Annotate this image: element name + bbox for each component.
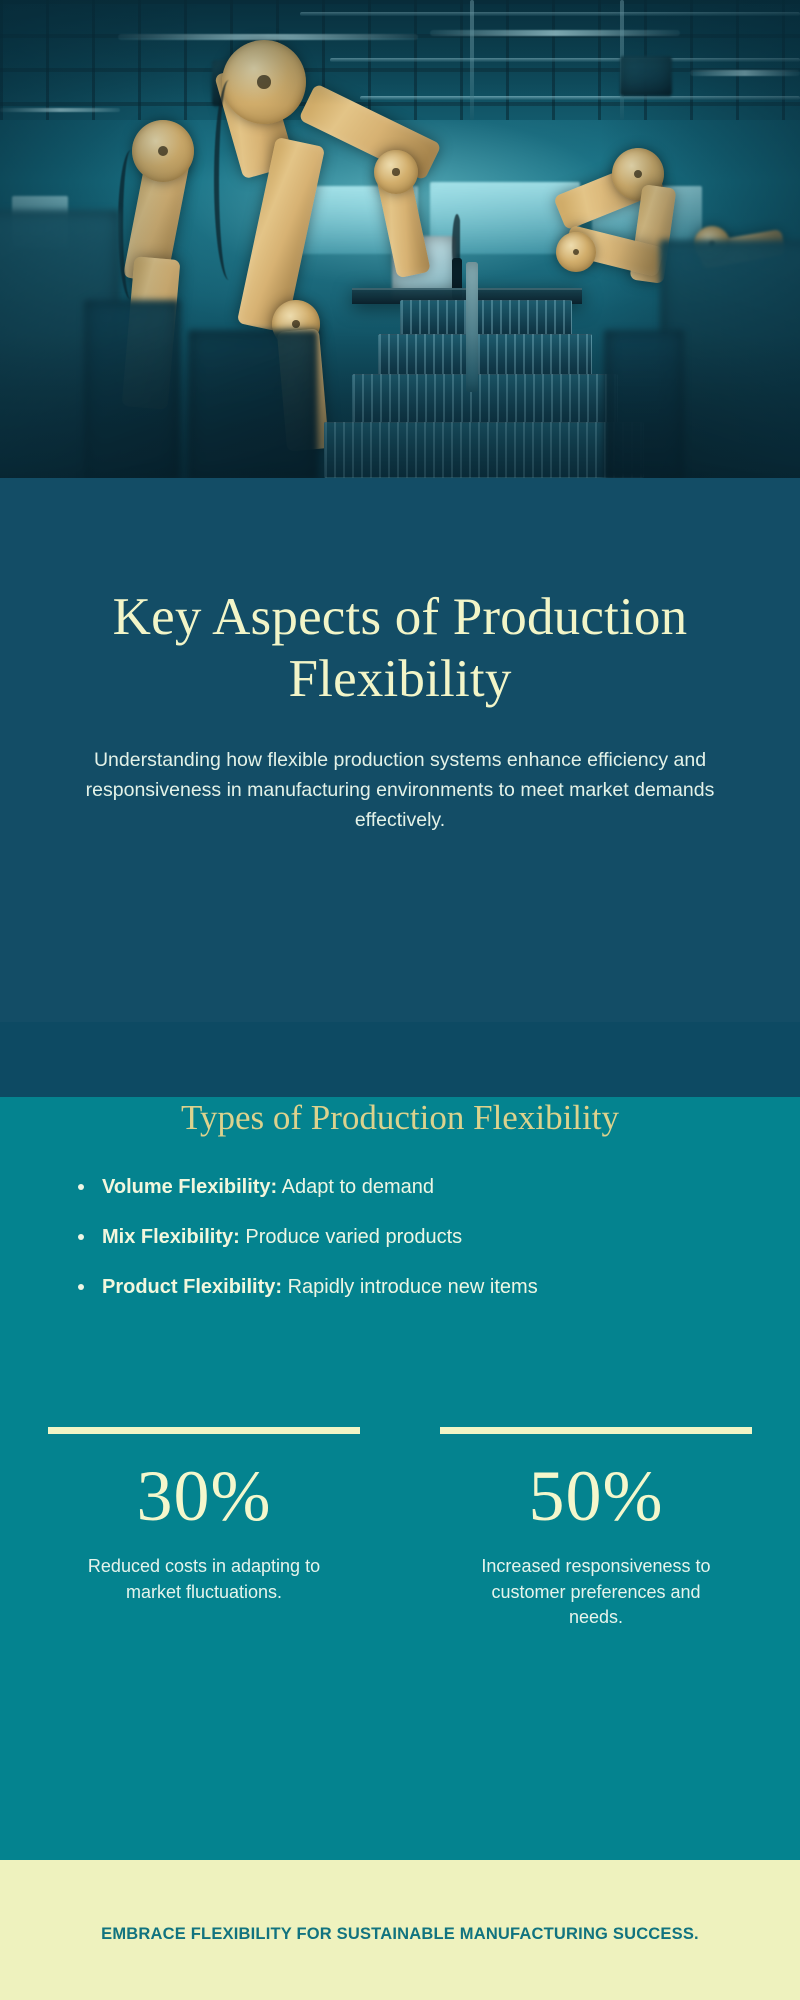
list-item-desc: Rapidly introduce new items: [282, 1276, 538, 1298]
intro-section: Key Aspects of Production Flexibility Un…: [0, 478, 800, 1022]
statistics-row: 30% Reduced costs in adapting to market …: [48, 1427, 752, 1631]
list-item: Product Flexibility: Rapidly introduce n…: [66, 1273, 752, 1301]
stat-description: Reduced costs in adapting to market fluc…: [79, 1554, 329, 1605]
hero-vignette-decor: [0, 0, 800, 478]
stat-value: 50%: [529, 1460, 664, 1532]
footer-section: EMBRACE FLEXIBILITY FOR SUSTAINABLE MANU…: [0, 1860, 800, 2000]
flexibility-types-list: Volume Flexibility: Adapt to demand Mix …: [48, 1173, 752, 1301]
footer-tagline: EMBRACE FLEXIBILITY FOR SUSTAINABLE MANU…: [101, 1923, 699, 1947]
list-item-term: Mix Flexibility:: [102, 1226, 240, 1248]
list-item: Mix Flexibility: Produce varied products: [66, 1223, 752, 1251]
stat-card: 50% Increased responsiveness to customer…: [440, 1427, 752, 1631]
stat-divider-rule: [440, 1427, 752, 1434]
infographic-page: Key Aspects of Production Flexibility Un…: [0, 0, 800, 2000]
stat-value: 30%: [137, 1460, 272, 1532]
page-subtitle: Understanding how flexible production sy…: [50, 746, 750, 835]
stat-description: Increased responsiveness to customer pre…: [471, 1554, 721, 1631]
list-item-term: Volume Flexibility:: [102, 1176, 277, 1198]
list-item: Volume Flexibility: Adapt to demand: [66, 1173, 752, 1201]
stat-divider-rule: [48, 1427, 360, 1434]
page-title: Key Aspects of Production Flexibility: [80, 586, 720, 710]
hero-image: [0, 0, 800, 478]
list-item-desc: Adapt to demand: [277, 1176, 434, 1198]
types-section-heading: Types of Production Flexibility: [48, 1097, 752, 1139]
list-item-term: Product Flexibility:: [102, 1276, 282, 1298]
list-item-desc: Produce varied products: [240, 1226, 462, 1248]
stat-card: 30% Reduced costs in adapting to market …: [48, 1427, 360, 1631]
types-section: Types of Production Flexibility Volume F…: [0, 1097, 800, 1860]
factory-robot-image: [0, 0, 800, 478]
